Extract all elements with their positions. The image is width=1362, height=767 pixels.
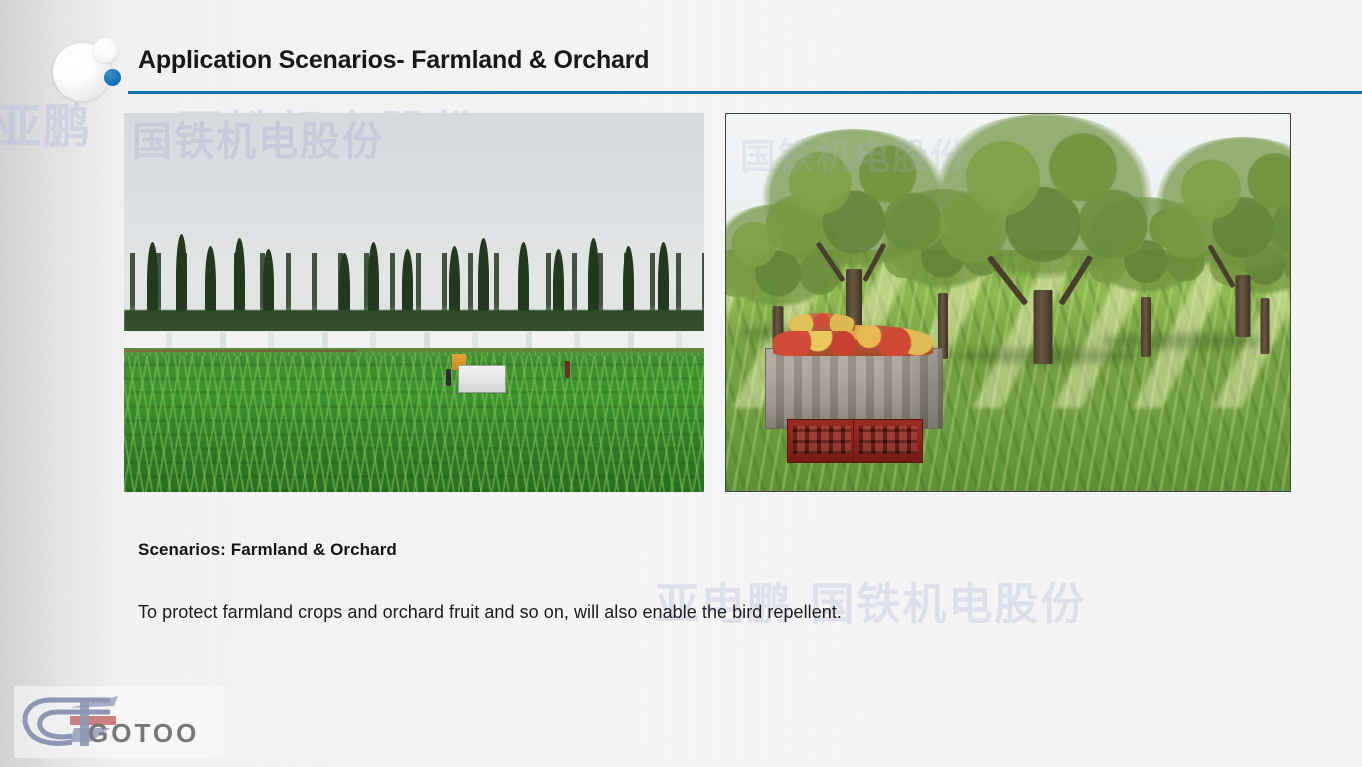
farmland-worker (446, 369, 451, 386)
apples-in-crate (789, 313, 855, 331)
page-title: Application Scenarios- Farmland & Orchar… (138, 46, 649, 75)
farmland-worker (565, 361, 570, 378)
scenarios-description: To protect farmland crops and orchard fr… (138, 602, 842, 623)
red-crate (853, 419, 923, 463)
farmland-photo: 国铁机电股份 (124, 113, 704, 492)
wooden-bin-box (765, 348, 943, 429)
decorative-small-circle (93, 38, 118, 63)
scenarios-heading: Scenarios: Farmland & Orchard (138, 540, 397, 560)
apple-tree-foreground (918, 114, 1168, 364)
orchard-photo: 国铁机电股份 (725, 113, 1291, 492)
tree-trunk (1236, 275, 1251, 337)
decorative-blue-dot-icon (104, 69, 121, 86)
tree-canopy (918, 114, 1168, 292)
gotoo-logo: GOTOO (14, 686, 224, 758)
apple-bin (765, 325, 943, 429)
tree-trunk (1033, 290, 1052, 364)
farmland-corn-field (124, 356, 704, 492)
logo-wordmark: GOTOO (88, 718, 199, 749)
apple-tree-foreground (1143, 137, 1291, 337)
farmland-truck (458, 365, 506, 393)
red-crate (787, 419, 857, 463)
title-underline-rule (128, 91, 1362, 94)
slide-title-text: Application Scenarios- Farmland & Orchar… (138, 46, 649, 75)
